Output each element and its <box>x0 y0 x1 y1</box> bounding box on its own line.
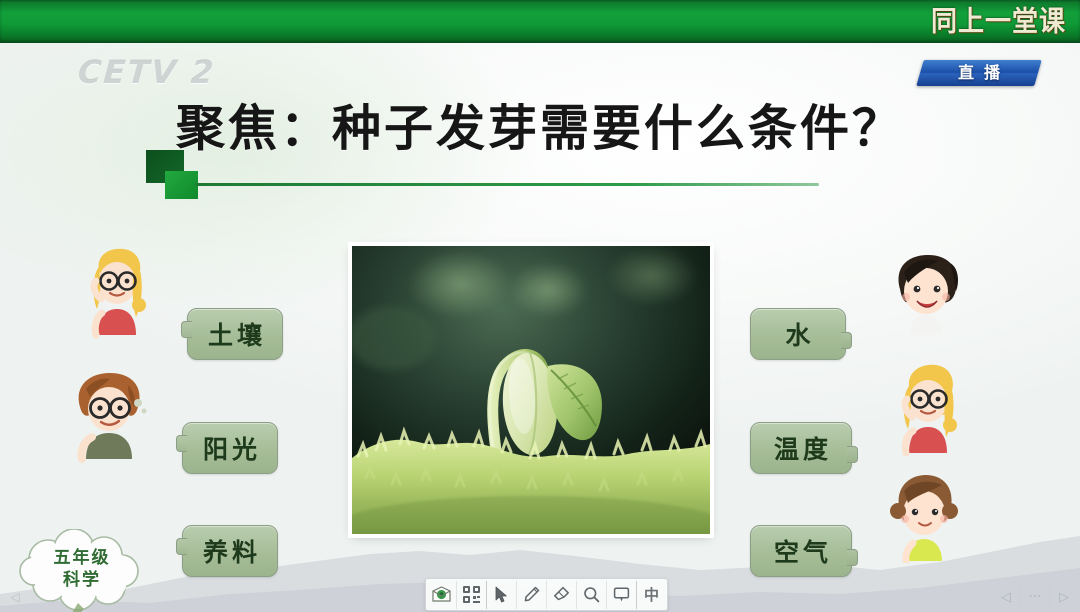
page-indicator: ··· <box>1021 584 1050 610</box>
avatar-boy-brown-glasses <box>58 363 158 463</box>
condition-label: 水 <box>781 316 814 352</box>
condition-pill-water[interactable]: 水 <box>750 308 846 360</box>
seedling-photo <box>352 246 710 534</box>
channel-watermark: CETV 2 <box>77 53 217 91</box>
ime-indicator-icon[interactable]: 中 <box>637 581 666 609</box>
live-badge-label: 直播 <box>920 60 1038 86</box>
avatar-girl-brown-pigtails <box>886 467 964 563</box>
title-decor-square-light <box>165 171 198 199</box>
grade-subject-badge: 五年级 科学 <box>16 529 148 612</box>
next-page-button[interactable]: ▷ <box>1050 584 1078 610</box>
app-logo-icon[interactable] <box>427 581 457 609</box>
panel-collapse-handle[interactable]: ◁ <box>4 586 26 608</box>
broadcast-header-bar: 同上一堂课 <box>0 0 1080 43</box>
annotation-toolbar[interactable]: 中 <box>425 578 668 611</box>
condition-pill-air[interactable]: 空气 <box>750 525 852 577</box>
pen-tool-icon[interactable] <box>517 581 547 609</box>
avatar-girl-blonde-glasses-2 <box>884 361 970 457</box>
prev-page-button[interactable]: ◁ <box>992 584 1021 610</box>
grade-badge-text: 五年级 科学 <box>16 547 148 591</box>
eraser-tool-icon[interactable] <box>547 581 577 609</box>
annotation-tool-icon[interactable] <box>607 581 637 609</box>
condition-pill-sunlight[interactable]: 阳光 <box>182 422 278 474</box>
program-title-logo: 同上一堂课 <box>931 0 1066 43</box>
condition-label: 温度 <box>770 430 832 466</box>
grade-line: 五年级 <box>16 547 148 569</box>
title-underline-rule <box>195 183 819 186</box>
condition-pill-nutrients[interactable]: 养料 <box>182 525 278 577</box>
avatar-girl-blonde-glasses <box>72 243 158 339</box>
condition-label: 阳光 <box>199 430 261 466</box>
condition-pill-temperature[interactable]: 温度 <box>750 422 852 474</box>
presentation-slide: CETV 2 直播 聚焦：种子发芽需要什么条件？ <box>0 43 1080 612</box>
zoom-tool-icon[interactable] <box>577 581 607 609</box>
slide-title: 聚焦：种子发芽需要什么条件？ <box>176 89 904 160</box>
avatar-boy-dark-hair <box>884 247 970 337</box>
qr-code-icon[interactable] <box>457 581 487 609</box>
subject-line: 科学 <box>16 569 148 591</box>
condition-label: 空气 <box>770 533 832 569</box>
condition-label: 养料 <box>199 533 261 569</box>
pointer-tool-icon[interactable] <box>487 581 517 609</box>
live-badge: 直播 <box>916 60 1041 86</box>
condition-label: 土壤 <box>204 316 266 352</box>
ime-label: 中 <box>644 584 659 605</box>
page-navigation[interactable]: ◁ ··· ▷ <box>992 584 1078 610</box>
condition-pill-soil[interactable]: 土壤 <box>187 308 283 360</box>
broadcast-screen: 同上一堂课 CETV 2 直播 聚焦：种子发芽需要什么条件？ <box>0 0 1080 612</box>
